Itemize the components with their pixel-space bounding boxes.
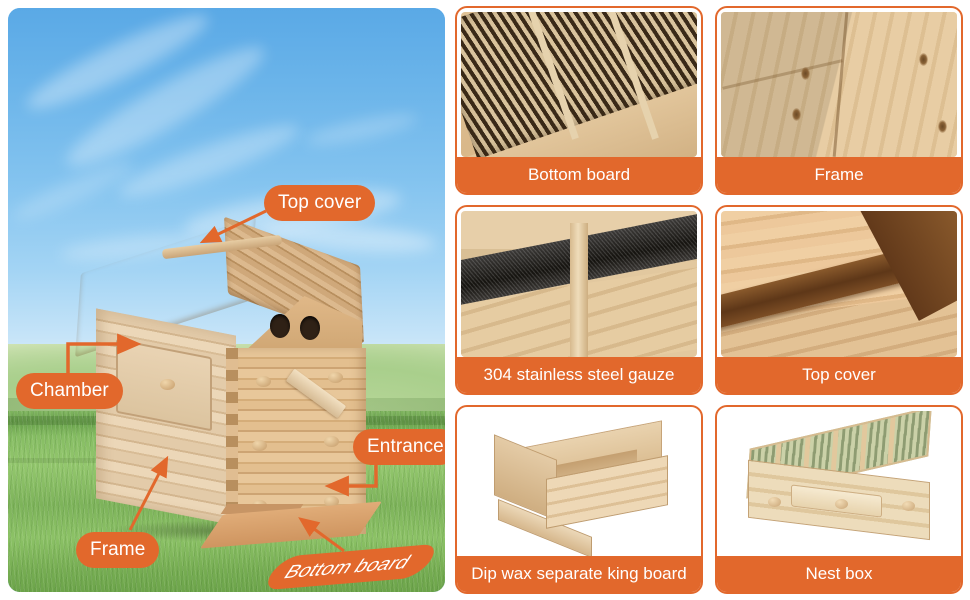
card-caption-frame: Frame (717, 157, 961, 193)
card-photo-bottom-board (461, 12, 697, 157)
card-photo-nest-box (721, 411, 957, 556)
knob-icon (324, 436, 339, 447)
card-caption-bottom-board: Bottom board (457, 157, 701, 193)
annotation-pill-frame: Frame (76, 532, 159, 568)
infographic-page: Top cover Chamber Frame Entrance Bottom … (0, 0, 970, 600)
feature-card-king-board[interactable]: Dip wax separate king board (455, 405, 703, 594)
card-photo-king-board (461, 411, 697, 556)
feature-card-bottom-board[interactable]: Bottom board (455, 6, 703, 195)
feature-card-frame[interactable]: Frame (715, 6, 963, 195)
annotation-pill-chamber: Chamber (16, 373, 123, 409)
card-caption-gauze: 304 stainless steel gauze (457, 357, 701, 393)
entrance-hole (300, 316, 320, 340)
feature-card-gauze[interactable]: 304 stainless steel gauze (455, 205, 703, 394)
feature-card-top-cover[interactable]: Top cover (715, 205, 963, 394)
cloud-icon (304, 109, 419, 151)
card-caption-top-cover: Top cover (717, 357, 961, 393)
card-photo-frame (721, 12, 957, 157)
feature-card-nest-box[interactable]: Nest box (715, 405, 963, 594)
card-caption-king-board: Dip wax separate king board (457, 556, 701, 592)
annotation-pill-entrance: Entrance (353, 429, 445, 465)
knob-icon (256, 376, 271, 387)
annotation-pill-top-cover: Top cover (264, 185, 375, 221)
card-photo-top-cover (721, 211, 957, 356)
knob-icon (328, 372, 343, 383)
card-caption-nest-box: Nest box (717, 556, 961, 592)
feature-card-grid: Bottom board Frame (455, 6, 963, 594)
knob-icon (160, 379, 175, 390)
card-photo-gauze (461, 211, 697, 356)
hero-product-photo: Top cover Chamber Frame Entrance Bottom … (8, 8, 445, 592)
knob-icon (252, 440, 267, 451)
entrance-hole (270, 314, 290, 338)
